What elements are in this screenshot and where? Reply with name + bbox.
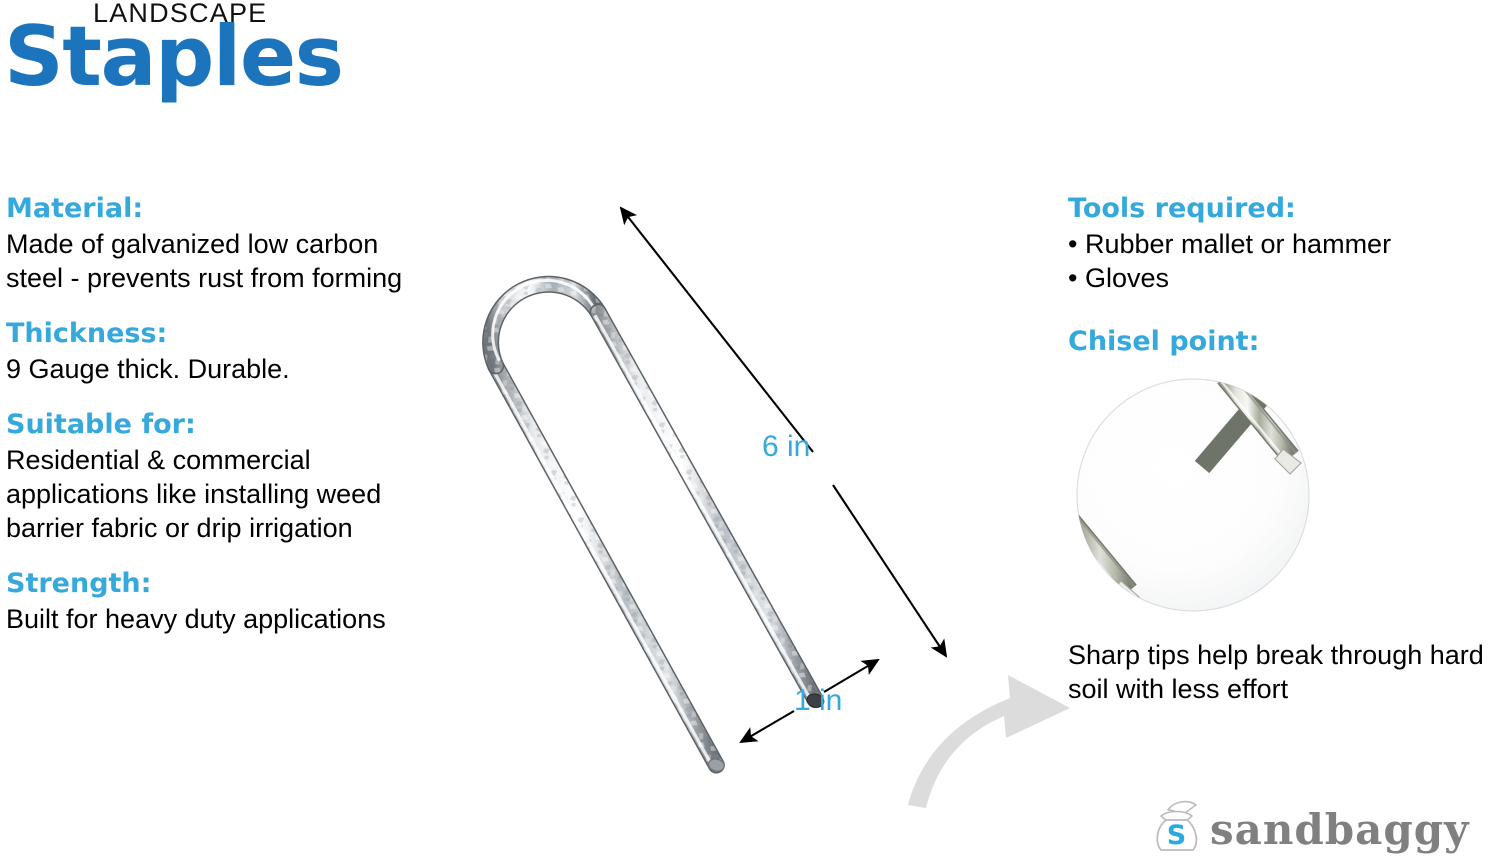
spec-heading-suitable-for: Suitable for: <box>6 408 426 442</box>
sandbaggy-logo: S sandbaggy <box>1152 797 1492 855</box>
tools-list-item: • Rubber mallet or hammer <box>1068 227 1500 261</box>
specs-right-column: Tools required: • Rubber mallet or hamme… <box>1068 192 1500 359</box>
brand-wordmark-text: sandbaggy <box>1210 805 1470 854</box>
sandbag-icon-letter: S <box>1167 820 1186 851</box>
spec-heading-chisel-point: Chisel point: <box>1068 325 1500 359</box>
dimension-label-length: 6 in <box>762 432 810 462</box>
spec-heading-thickness: Thickness: <box>6 317 426 351</box>
chisel-point-closeup <box>1075 375 1315 623</box>
dimension-label-width: 1 in <box>794 686 842 716</box>
spec-heading-material: Material: <box>6 192 426 226</box>
spec-body-thickness: 9 Gauge thick. Durable. <box>6 352 426 386</box>
callout-arrow-icon <box>908 675 1070 808</box>
spec-block-tools-required: Tools required: • Rubber mallet or hamme… <box>1068 192 1500 295</box>
spec-block-thickness: Thickness: 9 Gauge thick. Durable. <box>6 317 426 386</box>
spec-body-strength: Built for heavy duty applications <box>6 602 426 636</box>
title-wordmark: Staples <box>4 11 343 103</box>
infographic-page: LANDSCAPE Staples Material: Made of galv… <box>0 0 1500 861</box>
landscape-staple-illustration <box>430 160 1070 820</box>
spec-body-suitable-for: Residential & commercial applications li… <box>6 443 426 545</box>
page-title: LANDSCAPE Staples <box>0 0 520 120</box>
spec-block-strength: Strength: Built for heavy duty applicati… <box>6 567 426 636</box>
chisel-point-caption: Sharp tips help break through hard soil … <box>1068 638 1500 706</box>
sandbag-icon: S <box>1157 802 1196 851</box>
spec-heading-tools-required: Tools required: <box>1068 192 1500 226</box>
product-figure <box>430 160 1070 820</box>
chisel-point-detail-circle <box>1075 375 1315 623</box>
spec-block-chisel-point: Chisel point: <box>1068 325 1500 359</box>
spec-block-material: Material: Made of galvanized low carbon … <box>6 192 426 295</box>
brand-logo-graphic: S sandbaggy <box>1152 797 1492 855</box>
spec-body-material: Made of galvanized low carbon steel - pr… <box>6 227 426 295</box>
spec-block-suitable-for: Suitable for: Residential & commercial a… <box>6 408 426 545</box>
spec-heading-strength: Strength: <box>6 567 426 601</box>
specs-left-column: Material: Made of galvanized low carbon … <box>6 192 426 636</box>
tools-list-item: • Gloves <box>1068 261 1500 295</box>
